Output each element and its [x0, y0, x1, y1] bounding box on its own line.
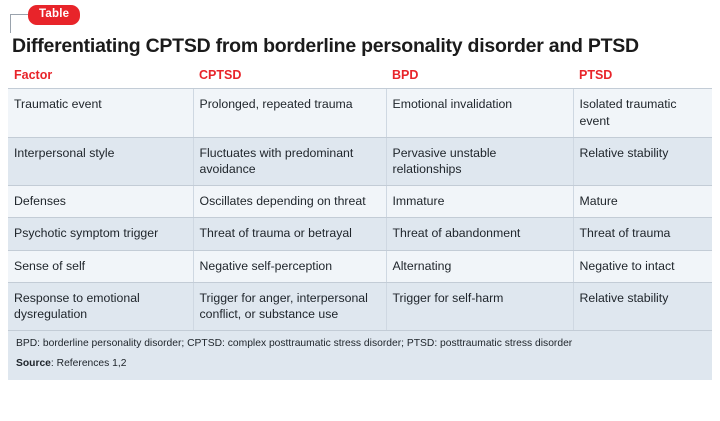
cell-factor: Interpersonal style: [8, 137, 193, 185]
cell-cptsd: Prolonged, repeated trauma: [193, 89, 386, 137]
table-row: Defenses Oscillates depending on threat …: [8, 186, 712, 218]
table-badge: Table: [28, 5, 80, 25]
table-container: Factor CPTSD BPD PTSD Traumatic event Pr…: [8, 66, 712, 331]
cell-factor: Traumatic event: [8, 89, 193, 137]
column-header-bpd: BPD: [386, 66, 573, 89]
column-header-cptsd: CPTSD: [193, 66, 386, 89]
badge-row: Table: [0, 0, 720, 32]
source-value: : References 1,2: [51, 358, 127, 369]
cell-factor: Defenses: [8, 186, 193, 218]
cell-cptsd: Oscillates depending on threat: [193, 186, 386, 218]
cell-ptsd: Mature: [573, 186, 712, 218]
cell-ptsd: Isolated traumatic event: [573, 89, 712, 137]
cell-factor: Sense of self: [8, 250, 193, 282]
cell-ptsd: Relative stability: [573, 137, 712, 185]
source-note: Source: References 1,2: [16, 357, 704, 371]
cell-bpd: Alternating: [386, 250, 573, 282]
cell-cptsd: Trigger for anger, interpersonal conflic…: [193, 282, 386, 330]
cell-factor: Response to emotional dysregulation: [8, 282, 193, 330]
abbreviation-note: BPD: borderline personality disorder; CP…: [16, 337, 704, 356]
cell-ptsd: Relative stability: [573, 282, 712, 330]
table-row: Psychotic symptom trigger Threat of trau…: [8, 218, 712, 250]
cell-cptsd: Negative self-perception: [193, 250, 386, 282]
table-row: Sense of self Negative self-perception A…: [8, 250, 712, 282]
cell-bpd: Immature: [386, 186, 573, 218]
footnotes: BPD: borderline personality disorder; CP…: [8, 331, 712, 380]
cell-ptsd: Threat of trauma: [573, 218, 712, 250]
table-row: Response to emotional dysregulation Trig…: [8, 282, 712, 330]
table-row: Traumatic event Prolonged, repeated trau…: [8, 89, 712, 137]
source-label: Source: [16, 358, 51, 369]
cell-bpd: Emotional invalidation: [386, 89, 573, 137]
comparison-table: Factor CPTSD BPD PTSD Traumatic event Pr…: [8, 66, 712, 331]
cell-bpd: Pervasive unstable relationships: [386, 137, 573, 185]
table-figure: Table Differentiating CPTSD from borderl…: [0, 0, 720, 421]
cell-cptsd: Threat of trauma or betrayal: [193, 218, 386, 250]
column-header-ptsd: PTSD: [573, 66, 712, 89]
column-header-factor: Factor: [8, 66, 193, 89]
header-row: Factor CPTSD BPD PTSD: [8, 66, 712, 89]
cell-factor: Psychotic symptom trigger: [8, 218, 193, 250]
table-row: Interpersonal style Fluctuates with pred…: [8, 137, 712, 185]
cell-ptsd: Negative to intact: [573, 250, 712, 282]
cell-bpd: Trigger for self-harm: [386, 282, 573, 330]
table-header: Factor CPTSD BPD PTSD: [8, 66, 712, 89]
cell-cptsd: Fluctuates with predominant avoidance: [193, 137, 386, 185]
cell-bpd: Threat of abandonment: [386, 218, 573, 250]
table-body: Traumatic event Prolonged, repeated trau…: [8, 89, 712, 331]
page-title: Differentiating CPTSD from borderline pe…: [0, 32, 720, 58]
